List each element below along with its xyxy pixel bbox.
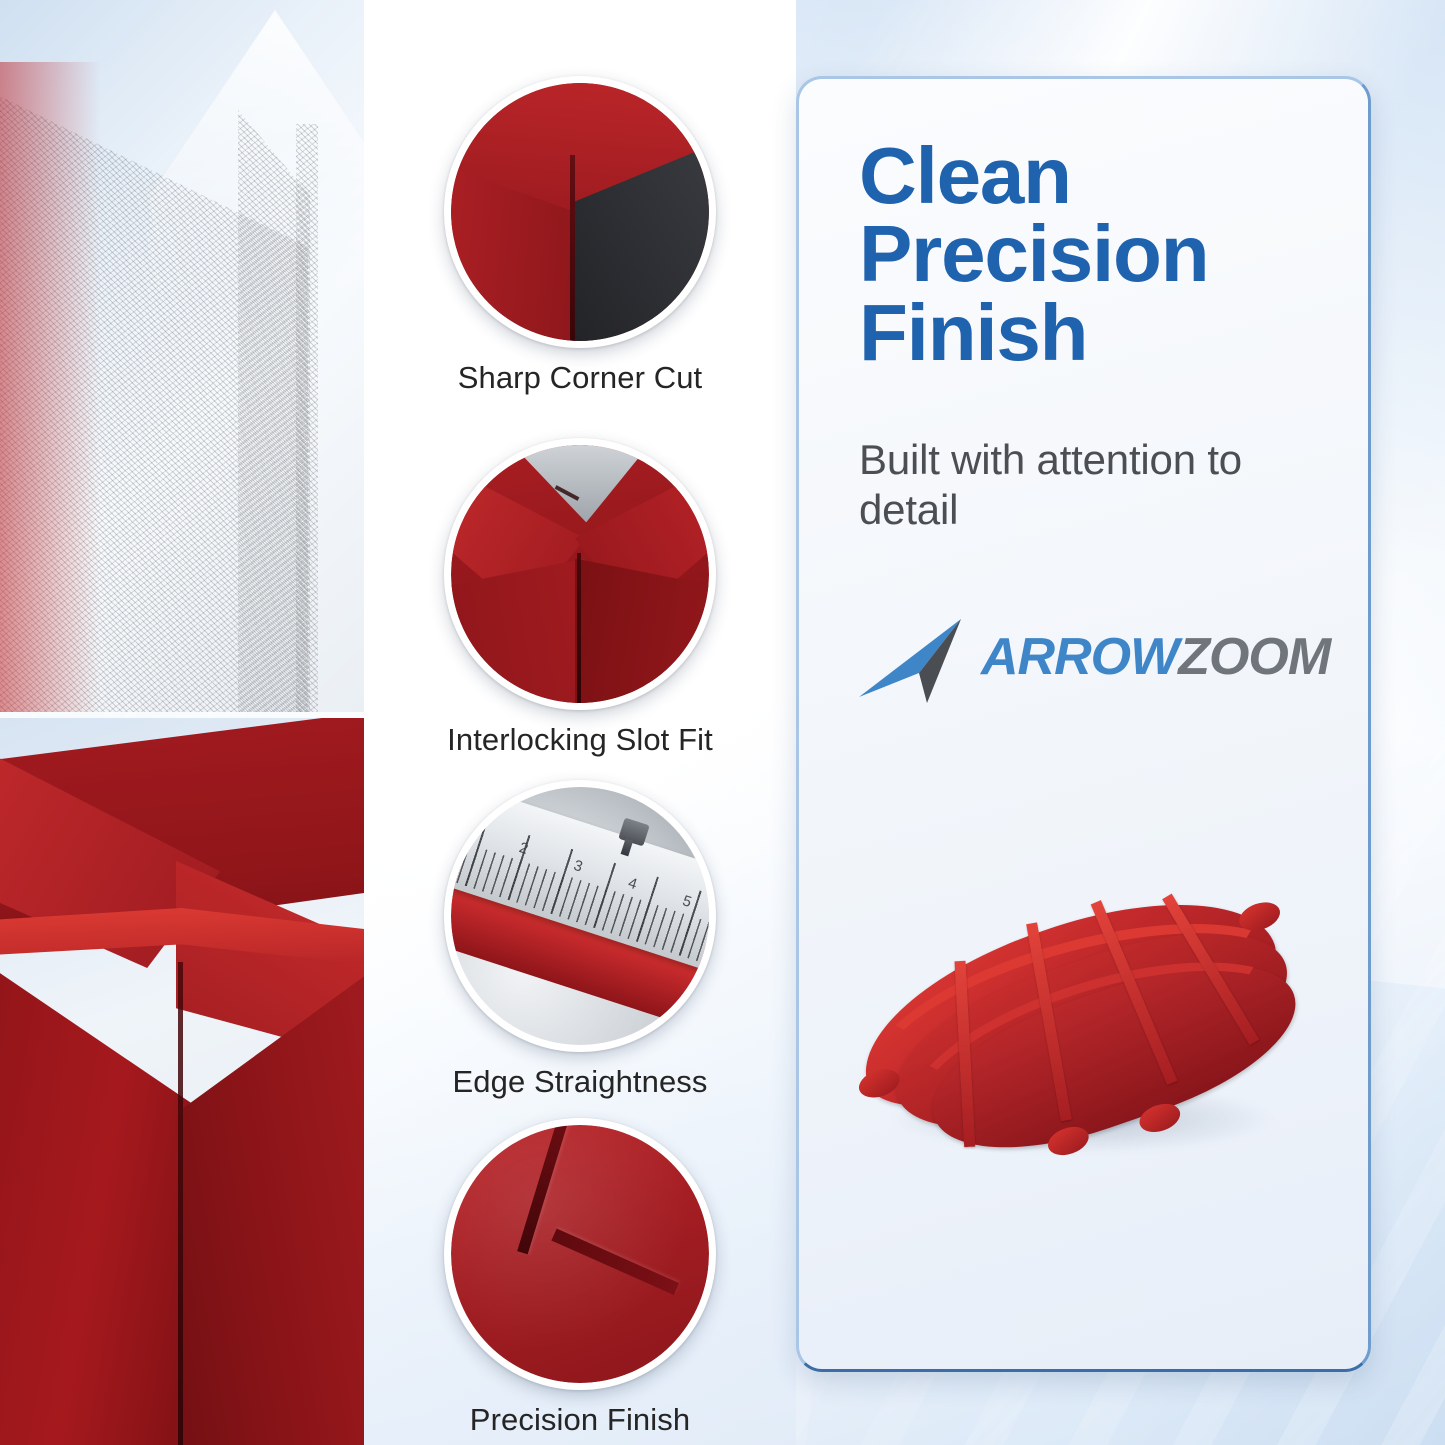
product-photo-panel-edge — [0, 0, 364, 712]
panel-seam — [178, 962, 183, 1445]
precision-finish-circle[interactable] — [444, 1118, 716, 1390]
feature-column: Sharp Corner Cut Interlocking Slot Fit — [364, 0, 796, 1445]
card-subtitle: Built with attention to detail — [859, 435, 1309, 534]
panel-edge-rim — [296, 124, 318, 712]
photo-column — [0, 0, 364, 1445]
brand-name-zoom: ZOOM — [1178, 628, 1330, 686]
card-title-line-3: Finish — [859, 294, 1329, 372]
feature-label: Interlocking Slot Fit — [364, 722, 796, 758]
card-title: Clean Precision Finish — [859, 137, 1329, 372]
felt-surface — [451, 1125, 709, 1383]
ruler-edge-image: 1 2 3 4 5 6 — [451, 787, 709, 1045]
feature-edge-straightness[interactable]: 1 2 3 4 5 6 Edge Straightness — [364, 780, 796, 1100]
precision-finish-image — [451, 1125, 709, 1383]
slot-fit-image — [451, 445, 709, 703]
brand-logo: ARROWZOOM — [857, 609, 1327, 705]
corner-cut-image — [451, 83, 709, 341]
product-photo-interlock — [0, 718, 364, 1445]
feature-precision-finish[interactable]: Precision Finish — [364, 1118, 796, 1438]
ruler-edge-circle[interactable]: 1 2 3 4 5 6 — [444, 780, 716, 1052]
corner-ridge — [570, 155, 575, 341]
brand-name-arrow: ARROW — [981, 628, 1178, 686]
corner-cut-circle[interactable] — [444, 76, 716, 348]
slot-seam — [577, 553, 581, 703]
product-render — [827, 839, 1347, 1279]
brand-wordmark: ARROWZOOM — [981, 627, 1330, 687]
feature-label: Precision Finish — [364, 1402, 796, 1438]
slot-fit-circle[interactable] — [444, 438, 716, 710]
feature-sharp-corner-cut[interactable]: Sharp Corner Cut — [364, 76, 796, 396]
feature-label: Sharp Corner Cut — [364, 360, 796, 396]
feature-label: Edge Straightness — [364, 1064, 796, 1100]
panel-shadow-wash — [0, 62, 100, 712]
arrow-logo-icon — [857, 617, 977, 705]
infographic-canvas: Sharp Corner Cut Interlocking Slot Fit — [0, 0, 1445, 1445]
card-title-line-2: Precision — [859, 215, 1329, 293]
info-card: Clean Precision Finish Built with attent… — [796, 76, 1371, 1372]
card-title-line-1: Clean — [859, 137, 1329, 215]
feature-interlocking-slot-fit[interactable]: Interlocking Slot Fit — [364, 438, 796, 758]
product-body — [826, 811, 1349, 1216]
